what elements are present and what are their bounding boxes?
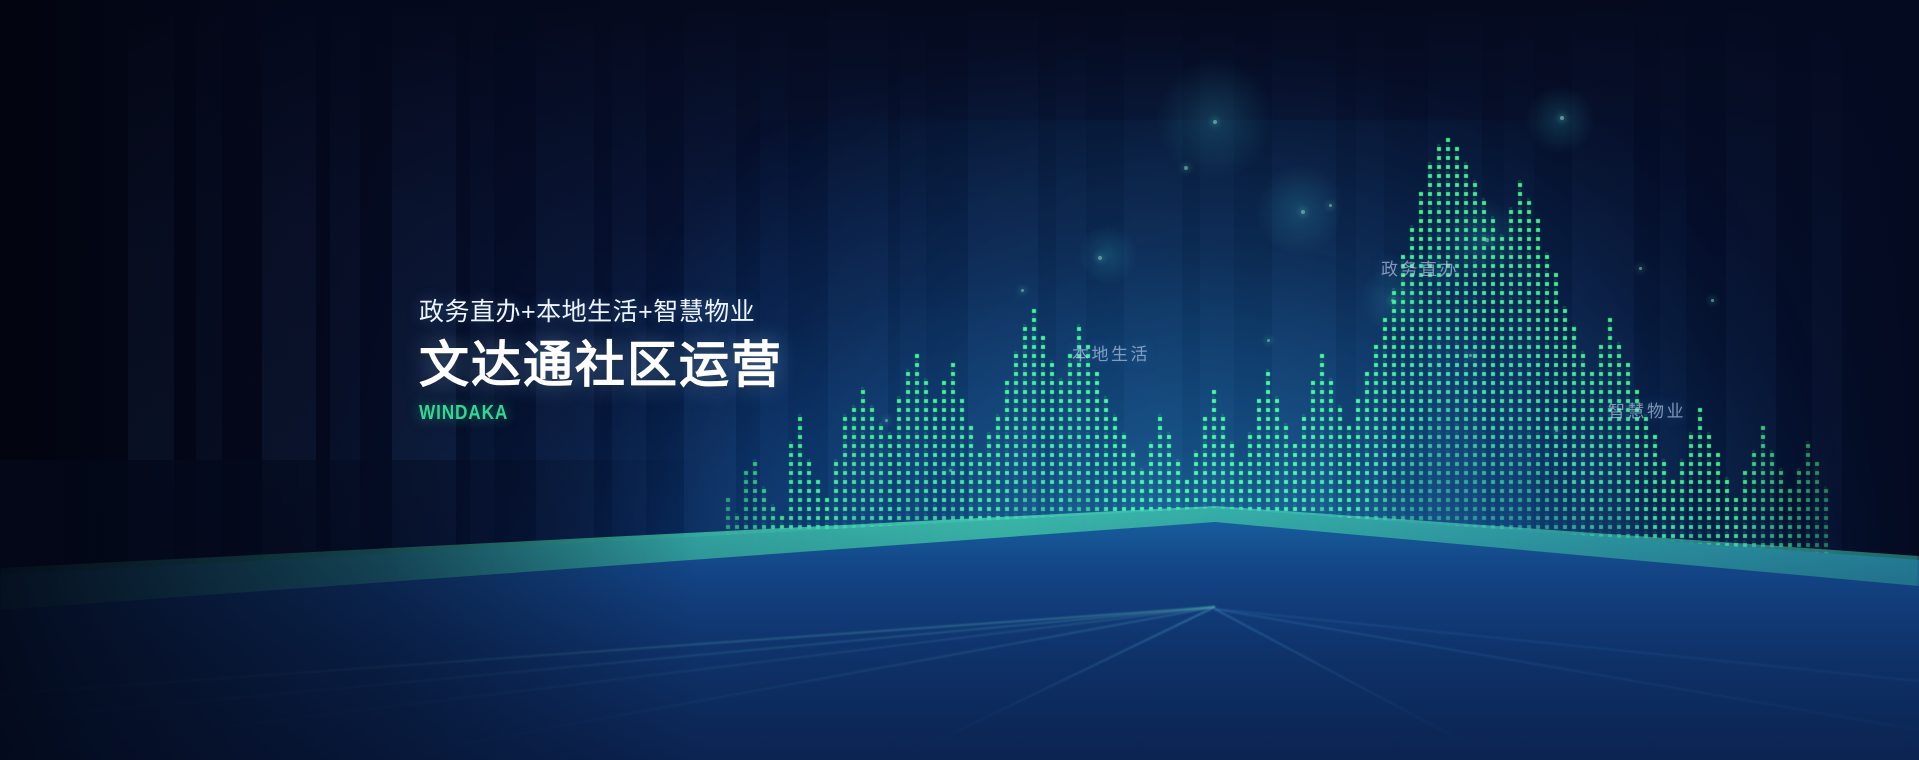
brand-wordmark: WINDAKA — [419, 402, 969, 425]
headline-block: 政务直办+本地生活+智慧物业 文达通社区运营 WINDAKA — [419, 297, 1059, 425]
floating-label-3: 智慧物业 — [1608, 397, 1686, 422]
floating-label-1: 政务直办 — [1381, 255, 1459, 280]
banner-headline: 文达通社区运营 — [419, 337, 1059, 393]
banner-subtitle: 政务直办+本地生活+智慧物业 — [419, 297, 1059, 328]
hero-banner: 政务直办+本地生活+智慧物业 文达通社区运营 WINDAKA 政务直办本地生活智… — [0, 0, 1919, 760]
floating-label-2: 本地生活 — [1072, 340, 1150, 365]
